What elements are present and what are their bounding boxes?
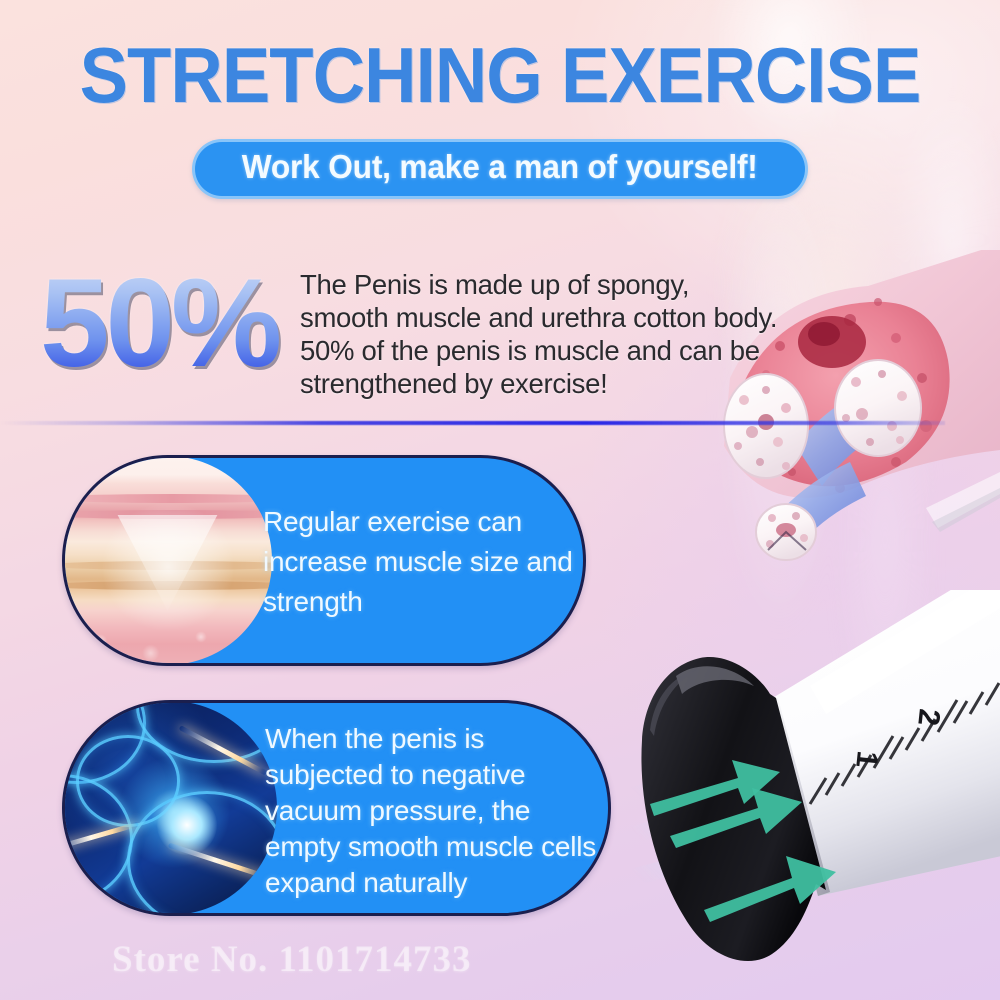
subtitle-banner-wrap: Work Out, make a man of yourself! [0, 139, 1000, 199]
promo-poster: 1 2 STRETCHING EXERCISE Work Out, [0, 0, 1000, 1000]
ruler-number-1: 1 [849, 749, 884, 769]
ruler-number-2: 2 [911, 707, 946, 727]
store-watermark: Store No. 1101714733 [112, 938, 472, 981]
suction-arrow-upper [650, 760, 780, 816]
suction-arrow-middle [670, 788, 802, 848]
stat-paragraph: The Penis is made up of spongy, smooth m… [300, 268, 780, 400]
feature-card-exercise-text: Regular exercise can increase muscle siz… [263, 502, 573, 622]
stat-percentage: 50% [40, 256, 290, 396]
feature-card-exercise: Regular exercise can increase muscle siz… [62, 455, 586, 666]
section-divider [0, 421, 945, 425]
skin-layers-thumbnail [63, 456, 272, 665]
background-figure-silhouette-lower [660, 120, 960, 820]
subtitle-banner: Work Out, make a man of yourself! [192, 139, 807, 199]
subtitle-banner-text: Work Out, make a man of yourself! [242, 149, 758, 186]
suction-arrow-lower [704, 856, 836, 922]
feature-card-vacuum-text: When the penis is subjected to negative … [265, 721, 603, 901]
neuron-cell-thumbnail [63, 701, 277, 915]
vacuum-pump-device-illustration: 1 2 [620, 590, 1000, 980]
feature-card-vacuum: When the penis is subjected to negative … [62, 700, 611, 916]
poster-title: STRETCHING EXERCISE [35, 36, 965, 114]
